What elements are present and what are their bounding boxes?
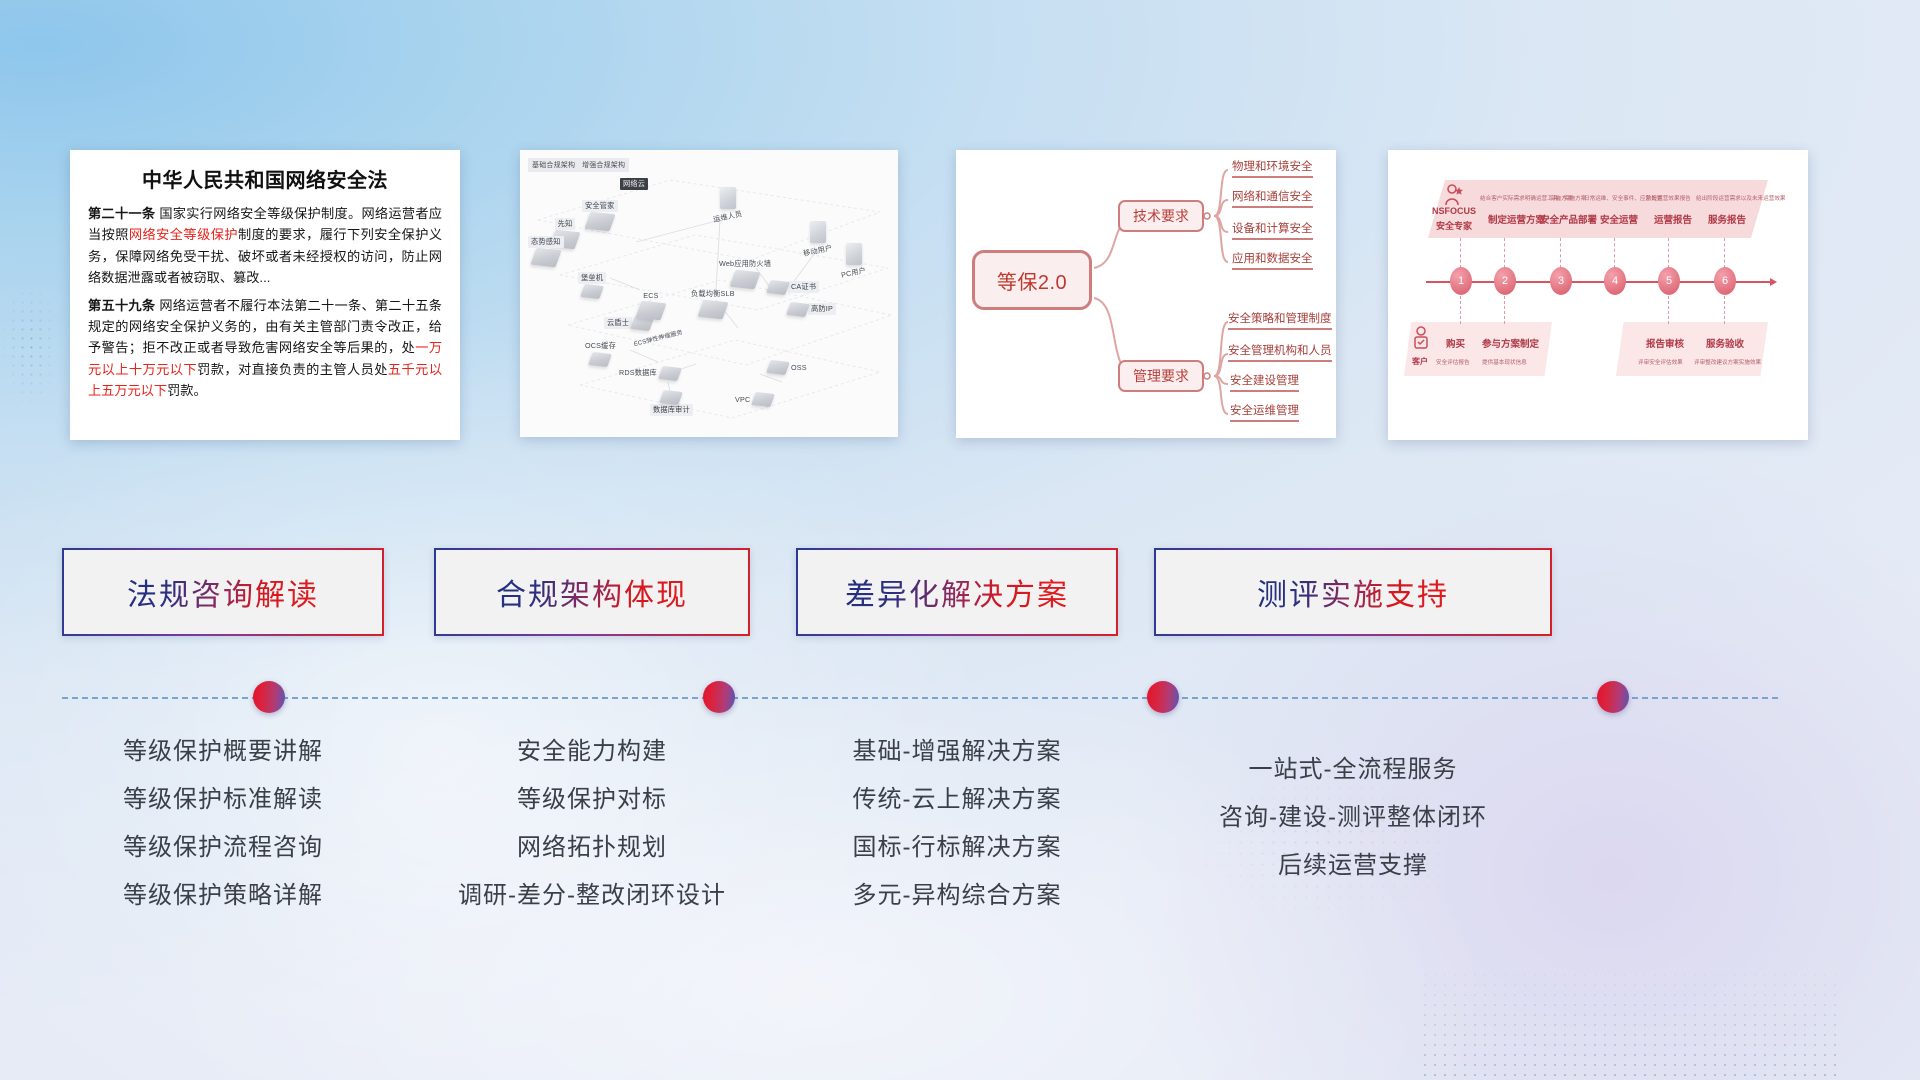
mindmap-leaf-mgmt-4: 安全运维管理 [1230,402,1299,422]
detail-list-differentiated-solution: 基础-增强解决方案 传统-云上解决方案 国标-行标解决方案 多元-异构综合方案 [796,740,1118,908]
timeline-node-6[interactable]: 6 [1714,267,1736,295]
timeline-vendor-name: NSFOCUS [1432,206,1476,216]
headline-label-4: 测评实施支持 [1257,570,1449,614]
mindmap-leaf-mgmt-2: 安全管理机构和人员 [1228,342,1332,362]
mindmap-leaf-tech-4: 应用和数据安全 [1232,250,1313,270]
arch-node-security-butler: 安全管家 [582,200,618,230]
timeline-top-title-5: 服务报告 [1708,212,1746,226]
timeline-customer-label: 客户 [1412,356,1428,367]
headline-label-1: 法规咨询解读 [127,570,319,614]
timeline-top-sub-4: 阶段运营效果报告 [1646,194,1691,202]
law-article-21: 第二十一条 国家实行网络安全等级保护制度。网络运营者应当按照网络安全等级保护制度… [88,203,442,289]
law-card-body: 中华人民共和国网络安全法 第二十一条 国家实行网络安全等级保护制度。网络运营者应… [70,150,460,417]
timeline-connector-3 [1560,238,1561,268]
timeline-connector-b1 [1460,296,1461,324]
mindmap-leaf-tech-3: 设备和计算安全 [1232,220,1313,240]
list-item: 后续运营支撑 [1154,854,1552,878]
thumbnail-card-row: 中华人民共和国网络安全法 第二十一条 国家实行网络安全等级保护制度。网络运营者应… [70,150,1850,442]
headline-row: 法规咨询解读 合规架构体现 差异化解决方案 测评实施支持 [0,548,1920,638]
law-article-59-text-b: 罚款，对直接负责的主管人员处 [197,362,388,377]
headline-label-3: 差异化解决方案 [845,570,1069,614]
card-cybersecurity-law[interactable]: 中华人民共和国网络安全法 第二十一条 国家实行网络安全等级保护制度。网络运营者应… [70,150,460,440]
timeline-top-sub-5: 给出阶段运营需求以及未来运营效果 [1696,194,1786,202]
timeline-top-title-2: 安全产品部署 [1540,212,1597,226]
arrow-right-icon [1770,278,1777,286]
timeline-node-4[interactable]: 4 [1604,267,1626,295]
arch-node-oss: OSS [768,360,810,374]
list-item: 等级保护对标 [434,788,750,812]
arch-tab-basic[interactable]: 基础合规架构 [528,158,579,172]
detail-list-evaluation-support: 一站式-全流程服务 咨询-建设-测评整体闭环 后续运营支撑 [1154,758,1552,878]
mindmap-leaf-mgmt-1: 安全策略和管理制度 [1228,310,1332,330]
mindmap-root-node[interactable]: 等保2.0 [972,250,1092,310]
timeline-connector-6 [1724,238,1725,268]
timeline-top-title-4: 运营报告 [1654,212,1692,226]
list-item: 安全能力构建 [434,740,750,764]
detail-list-regulation-consulting: 等级保护概要讲解 等级保护标准解读 等级保护流程咨询 等级保护策略详解 [62,740,384,908]
timeline-node-1[interactable]: 1 [1450,267,1472,295]
timeline-bottom-title-4: 服务验收 [1706,336,1744,350]
mindmap-leaf-tech-1: 物理和环境安全 [1232,158,1313,178]
law-article-21-highlight: 网络安全等级保护 [129,227,238,242]
law-title: 中华人民共和国网络安全法 [88,164,442,193]
timeline-vendor-band [1428,180,1768,238]
mindmap-branch-technical[interactable]: 技术要求 [1118,200,1204,232]
timeline-connector-b3 [1668,296,1669,324]
list-item: 等级保护标准解读 [62,788,384,812]
timeline-node-5[interactable]: 5 [1658,267,1680,295]
architecture-diagram: 基础合规架构 增强合规架构 网络云 安全管家 先知 态势感知 堡垒机 云盾士 E… [520,150,898,437]
list-item: 网络拓扑规划 [434,836,750,860]
customer-check-icon [1412,326,1430,354]
timeline-marker-3[interactable] [1147,681,1179,713]
headline-box-evaluation-support[interactable]: 测评实施支持 [1154,548,1552,636]
timeline-connector-5 [1668,238,1669,268]
timeline-node-3[interactable]: 3 [1550,267,1572,295]
person-icon [1444,184,1464,206]
arch-node-anti-ddos-ip: 高防IP [788,302,836,316]
timeline-connector-b2 [1504,296,1505,324]
arch-node-vpc: VPC [732,392,773,406]
list-item: 等级保护概要讲解 [62,740,384,764]
arch-node-slb: 负载均衡SLB [688,288,738,318]
list-item: 基础-增强解决方案 [796,740,1118,764]
timeline-connector-4 [1614,238,1615,268]
timeline-bottom-sub-3: 评审安全评估效果 [1638,358,1683,366]
card-compliance-architecture[interactable]: 基础合规架构 增强合规架构 网络云 安全管家 先知 态势感知 堡垒机 云盾士 E… [520,150,898,437]
timeline-bottom-title-3: 报告审核 [1646,336,1684,350]
mindmap-leaf-tech-2: 网络和通信安全 [1232,188,1313,208]
timeline-top-sub-2: 实施方案 [1550,194,1572,202]
timeline-top-title-3: 安全运营 [1600,212,1638,226]
arch-node-ca-certificate: CA证书 [768,280,819,294]
timeline-customer-band-right [1616,322,1768,376]
headline-box-regulation-consulting[interactable]: 法规咨询解读 [62,548,384,636]
arch-node-operations-staff: 运维人员 [710,186,746,223]
detail-list-compliance-architecture: 安全能力构建 等级保护对标 网络拓扑规划 调研-差分-整改闭环设计 [434,740,750,908]
timeline-connector-b4 [1724,296,1725,324]
timeline-connector-2 [1504,238,1505,268]
card-evaluation-timeline[interactable]: NSFOCUS 安全专家 结合客户实际需求明确运营工具、实施方案 制定运营方案 … [1388,150,1808,440]
list-item: 一站式-全流程服务 [1154,758,1552,782]
list-item: 调研-差分-整改闭环设计 [434,884,750,908]
arch-node-situational-awareness: 态势感知 [528,236,564,266]
timeline-bottom-sub-2: 提供基本现状信息 [1482,358,1527,366]
timeline-marker-2[interactable] [703,681,735,713]
arch-node-ecs: ECS [638,290,664,319]
timeline-dashed-axis [62,697,1778,699]
arch-node-mobile-user: 移动用户 [800,220,836,257]
list-item: 等级保护流程咨询 [62,836,384,860]
headline-label-2: 合规架构体现 [496,570,688,614]
mindmap-branch-management[interactable]: 管理要求 [1118,360,1204,392]
timeline-bottom-title-2: 参与方案制定 [1482,336,1539,350]
timeline-marker-4[interactable] [1597,681,1629,713]
arch-node-database-audit: 数据库审计 [650,390,693,416]
timeline-bottom-title-1: 购买 [1446,336,1465,350]
timeline-node-2[interactable]: 2 [1494,267,1516,295]
mindmap-canvas: 等保2.0 技术要求 物理和环境安全 网络和通信安全 设备和计算安全 应用和数据… [956,150,1336,438]
timeline-bottom-sub-4: 评审整改建议方案实施效果 [1694,358,1761,366]
timeline-top-title-1: 制定运营方案 [1488,212,1545,226]
timeline-marker-1[interactable] [253,681,285,713]
law-article-59-number: 第五十九条 [88,298,155,313]
arch-node-waf: Web应用防火墙 [716,258,774,288]
timeline-connector-1 [1460,238,1461,268]
card-mindmap-dengbao20[interactable]: 等保2.0 技术要求 物理和环境安全 网络和通信安全 设备和计算安全 应用和数据… [956,150,1336,438]
arch-node-pc-user: PC用户 [838,242,869,279]
list-item: 多元-异构综合方案 [796,884,1118,908]
law-article-59: 第五十九条 网络运营者不履行本法第二十一条、第二十五条规定的网络安全保护义务的，… [88,295,442,402]
arch-node-bastion-host: 堡垒机 [578,272,606,298]
mindmap-leaf-mgmt-3: 安全建设管理 [1230,372,1299,392]
timeline-vendor-role: 安全专家 [1436,219,1472,232]
arch-node-cloud: 网络云 [620,178,648,190]
law-article-59-text-c: 罚款。 [167,383,207,398]
list-item: 传统-云上解决方案 [796,788,1118,812]
law-article-21-number: 第二十一条 [88,206,155,221]
list-item: 等级保护策略详解 [62,884,384,908]
arch-node-rds-database: RDS数据库 [616,366,680,380]
headline-box-differentiated-solution[interactable]: 差异化解决方案 [796,548,1118,636]
headline-box-compliance-architecture[interactable]: 合规架构体现 [434,548,750,636]
list-item: 咨询-建设-测评整体闭环 [1154,806,1552,830]
timeline-bottom-sub-1: 安全评估报告 [1436,358,1470,366]
timeline-canvas: NSFOCUS 安全专家 结合客户实际需求明确运营工具、实施方案 制定运营方案 … [1388,150,1808,440]
list-item: 国标-行标解决方案 [796,836,1118,860]
arch-node-ocs-cache: OCS缓存 [582,340,619,366]
arch-tab-enhanced[interactable]: 增强合规架构 [578,158,629,172]
